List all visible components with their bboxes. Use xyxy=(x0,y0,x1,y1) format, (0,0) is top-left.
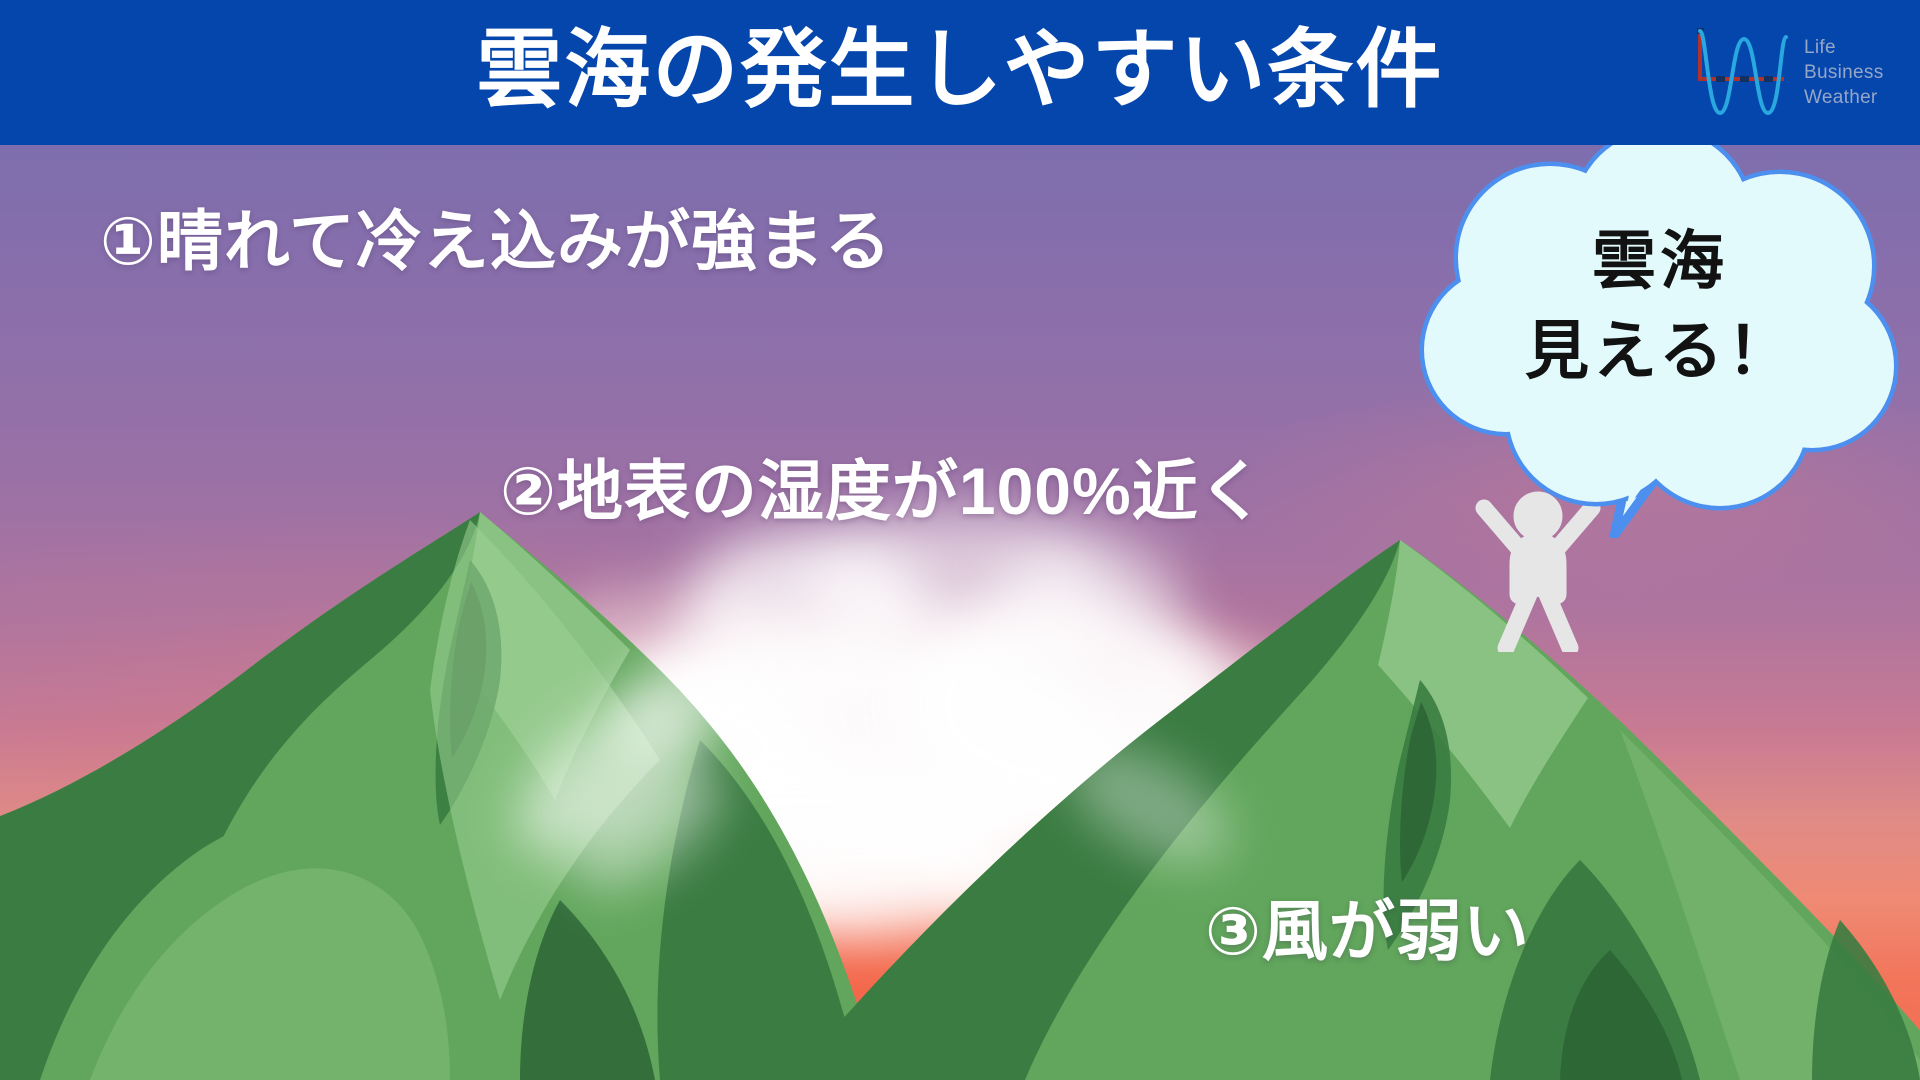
speech-bubble-text: 雲海 見える！ xyxy=(1400,118,1920,538)
infographic-canvas: ①晴れて冷え込みが強まる ②地表の湿度が100%近く ③風が弱い xyxy=(0,0,1920,1080)
header-bar: 雲海の発生しやすい条件 Life Business Weather xyxy=(0,0,1920,145)
logo-line-business: Business xyxy=(1804,63,1884,82)
logo-wordmark: Life Business Weather xyxy=(1804,38,1884,107)
condition-item-1: ①晴れて冷え込みが強まる xyxy=(100,205,892,278)
wave-logo-icon xyxy=(1686,17,1798,127)
logo: Life Business Weather xyxy=(1686,8,1906,136)
logo-line-life: Life xyxy=(1804,38,1884,57)
page-title: 雲海の発生しやすい条件 xyxy=(0,0,1920,145)
speech-bubble-line-2: 見える！ xyxy=(1525,319,1795,383)
logo-line-weather: Weather xyxy=(1804,88,1884,107)
speech-bubble-line-1: 雲海 xyxy=(1592,229,1728,293)
condition-item-2: ②地表の湿度が100%近く xyxy=(500,455,1266,528)
speech-bubble: 雲海 見える！ xyxy=(1400,118,1920,538)
condition-item-3: ③風が弱い xyxy=(1205,895,1530,968)
